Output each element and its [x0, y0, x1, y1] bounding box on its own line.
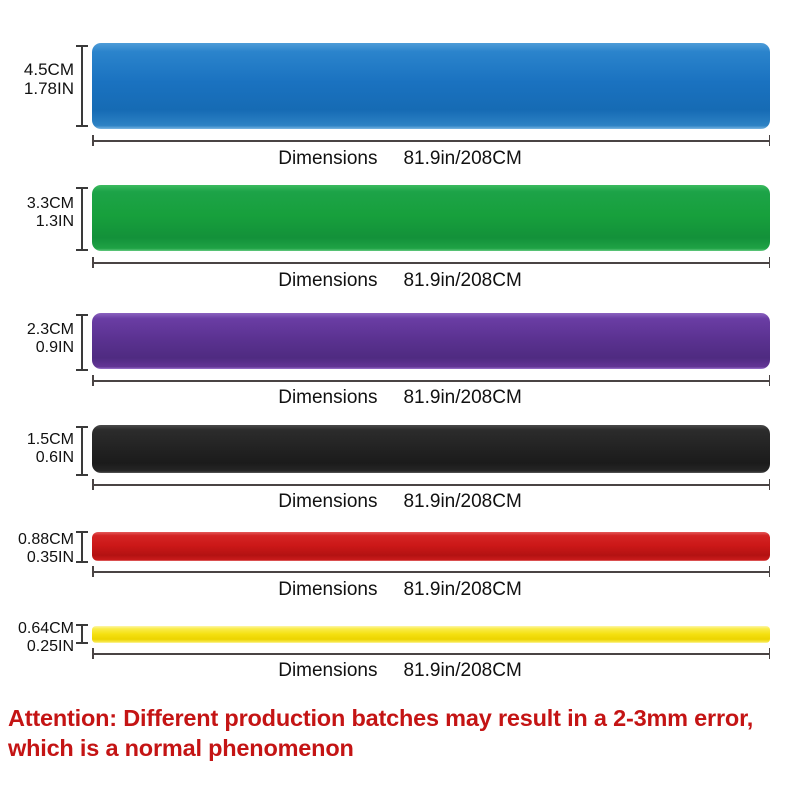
measure-line: [92, 653, 770, 655]
bracket-stem: [81, 531, 83, 563]
blue-width-cm: 4.5CM: [24, 60, 74, 79]
bracket-cap-bottom: [76, 474, 88, 476]
green-length-measure: [92, 257, 770, 268]
yellow-length-measure: [92, 648, 770, 659]
green-dimension-caption: Dimensions81.9in/208CM: [0, 270, 800, 292]
bracket-stem: [81, 45, 83, 127]
green-band: [92, 185, 770, 251]
bracket-cap-bottom: [76, 249, 88, 251]
dimension-word: Dimensions: [278, 387, 377, 409]
black-band: [92, 425, 770, 473]
dimension-word: Dimensions: [278, 660, 377, 682]
bracket-cap-bottom: [76, 642, 88, 644]
red-width-in: 0.35IN: [18, 549, 74, 567]
measure-tick-right: [769, 257, 771, 268]
yellow-dimension-caption: Dimensions81.9in/208CM: [0, 660, 800, 682]
red-length-measure: [92, 566, 770, 577]
black-width-in: 0.6IN: [27, 449, 74, 467]
yellow-thickness-bracket: [76, 624, 88, 644]
measure-tick-right: [769, 566, 771, 577]
measure-tick-right: [769, 648, 771, 659]
attention-line-2: which is a normal phenomenon: [8, 733, 798, 763]
blue-thickness-bracket: [76, 45, 88, 127]
bracket-stem: [81, 187, 83, 251]
blue-width-label: 4.5CM 1.78IN: [24, 60, 74, 98]
attention-line-1: Attention: Different production batches …: [8, 705, 753, 731]
bracket-stem: [81, 426, 83, 476]
yellow-width-cm: 0.64CM: [18, 620, 74, 638]
green-width-cm: 3.3CM: [27, 195, 74, 213]
black-thickness-bracket: [76, 426, 88, 476]
dimension-word: Dimensions: [278, 148, 377, 170]
black-dimension-caption: Dimensions81.9in/208CM: [0, 491, 800, 513]
blue-band: [92, 43, 770, 129]
yellow-width-label: 0.64CM 0.25IN: [18, 620, 74, 656]
dimension-value: 81.9in/208CM: [403, 491, 521, 513]
measure-tick-right: [769, 135, 771, 146]
yellow-band: [92, 626, 770, 643]
red-width-cm: 0.88CM: [18, 531, 74, 549]
attention-notice: Attention: Different production batches …: [8, 703, 798, 763]
measure-tick-right: [769, 375, 771, 386]
dimension-value: 81.9in/208CM: [403, 660, 521, 682]
black-length-measure: [92, 479, 770, 490]
bracket-cap-bottom: [76, 125, 88, 127]
purple-thickness-bracket: [76, 314, 88, 371]
red-width-label: 0.88CM 0.35IN: [18, 531, 74, 567]
measure-line: [92, 484, 770, 486]
green-width-label: 3.3CM 1.3IN: [27, 195, 74, 231]
measure-line: [92, 262, 770, 264]
dimension-word: Dimensions: [278, 579, 377, 601]
resistance-band-size-infographic: 4.5CM 1.78IN Dimensions81.9in/208CM 3.3C…: [0, 0, 800, 800]
measure-line: [92, 380, 770, 382]
dimension-value: 81.9in/208CM: [403, 387, 521, 409]
dimension-word: Dimensions: [278, 270, 377, 292]
purple-length-measure: [92, 375, 770, 386]
black-width-cm: 1.5CM: [27, 431, 74, 449]
dimension-word: Dimensions: [278, 491, 377, 513]
measure-line: [92, 140, 770, 142]
bracket-cap-bottom: [76, 561, 88, 563]
dimension-value: 81.9in/208CM: [403, 270, 521, 292]
purple-band: [92, 313, 770, 369]
green-width-in: 1.3IN: [27, 213, 74, 231]
purple-width-label: 2.3CM 0.9IN: [27, 321, 74, 357]
yellow-width-in: 0.25IN: [18, 638, 74, 656]
red-thickness-bracket: [76, 531, 88, 563]
red-dimension-caption: Dimensions81.9in/208CM: [0, 579, 800, 601]
dimension-value: 81.9in/208CM: [403, 148, 521, 170]
bracket-stem: [81, 314, 83, 371]
dimension-value: 81.9in/208CM: [403, 579, 521, 601]
red-band: [92, 532, 770, 561]
purple-width-cm: 2.3CM: [27, 321, 74, 339]
blue-width-in: 1.78IN: [24, 79, 74, 98]
bracket-stem: [81, 624, 83, 644]
purple-dimension-caption: Dimensions81.9in/208CM: [0, 387, 800, 409]
blue-dimension-caption: Dimensions81.9in/208CM: [0, 148, 800, 170]
measure-tick-right: [769, 479, 771, 490]
bracket-cap-bottom: [76, 369, 88, 371]
blue-length-measure: [92, 135, 770, 146]
black-width-label: 1.5CM 0.6IN: [27, 431, 74, 467]
measure-line: [92, 571, 770, 573]
purple-width-in: 0.9IN: [27, 339, 74, 357]
green-thickness-bracket: [76, 187, 88, 251]
